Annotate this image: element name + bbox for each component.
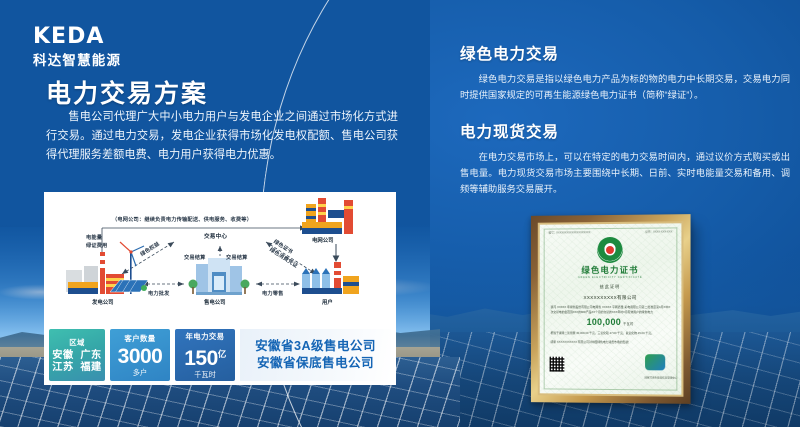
diagram-node-user: 用户 xyxy=(322,298,333,306)
section-body-green: 绿色电力交易是指以绿色电力产品为标的物的电力中长期交易，交易电力同时提供国家规定… xyxy=(460,71,790,103)
section-heading-green: 绿色电力交易 xyxy=(460,42,790,64)
stat-volume-caption: 年电力交易 xyxy=(186,331,225,342)
power-plant-illustration xyxy=(66,242,148,294)
brand-logo-mark: KEDA xyxy=(33,26,121,48)
stat-card-region: 区域 安徽 广东 江苏 福建 xyxy=(49,329,105,381)
certificate-body-text: 我司 XXXXX 年绿色股份有限公司电网省 XXXXX 平网质量 彩电用限公司第… xyxy=(549,305,673,314)
certificate-frame: 编号：XXXXXXXXXXXXXXXXXXXX 证书：XXXX-XXX-XXX … xyxy=(531,214,691,404)
stat-card-customers: 客户数量 3000 多户 xyxy=(110,329,170,381)
stat-customers-sub: 多户 xyxy=(133,368,147,378)
transaction-flow-diagram-card: （电网公司：继续负责电力传输配送、供电服务、收费等） 电能量 绿证费用 交易中心… xyxy=(44,192,396,325)
certificate-code-right: 证书：XXXX-XXX-XXX xyxy=(645,229,672,233)
intro-paragraph: 售电公司代理广大中小电力用户与发电企业之间通过市场化方式进行交易。通过电力交易，… xyxy=(46,108,398,165)
certificate-kind: 兹此证明 xyxy=(549,284,673,290)
brand-logo: KEDA 科达智慧能源 xyxy=(33,26,121,69)
stat-card-volume: 年电力交易 150亿 千瓦时 xyxy=(175,329,235,381)
region-2: 广东 xyxy=(80,350,101,361)
stat-customers-caption: 客户数量 xyxy=(124,333,155,344)
certificate-issuer-logo xyxy=(645,354,665,370)
region-4: 福建 xyxy=(80,362,101,373)
region-3: 江苏 xyxy=(52,362,73,373)
diagram-settlement-left: 交易结算 xyxy=(184,254,206,261)
stats-strip: 区域 安徽 广东 江苏 福建 客户数量 3000 多户 年电力交易 150亿 千… xyxy=(44,325,396,385)
certificate-top-codes: 编号：XXXXXXXXXXXXXXXXXXXX 证书：XXXX-XXX-XXX xyxy=(549,229,673,234)
certificate-emblem-icon xyxy=(597,237,623,263)
stat-region-values: 安徽 广东 江苏 福建 xyxy=(52,350,101,374)
seller-building-illustration xyxy=(189,258,250,295)
section-heading-spot: 电力现货交易 xyxy=(460,120,790,142)
stat-customers-value: 3000 xyxy=(118,346,163,367)
diagram-settlement-right: 交易结算 xyxy=(226,254,248,261)
certificate-paper: 编号：XXXXXXXXXXXXXXXXXXXX 证书：XXXX-XXX-XXX … xyxy=(538,221,684,396)
diagram-top-note: （电网公司：继续负责电力传输配送、供电服务、收费等） xyxy=(112,216,252,223)
certificate-amount-unit: 千瓦时 xyxy=(623,322,633,326)
page-title: 电力交易方案 xyxy=(46,74,208,110)
diagram-retail-label: 电力零售 xyxy=(262,290,284,297)
section-spot-trading: 电力现货交易 在电力交易市场上，可以在特定的电力交易时间内，通过议价方式购买或出… xyxy=(460,120,790,197)
certificate-qr-code xyxy=(550,357,565,372)
stat-volume-value: 150 xyxy=(184,347,218,370)
diagram-cert-fee-label: 绿证费用 xyxy=(86,242,108,249)
left-column: KEDA 科达智慧能源 电力交易方案 售电公司代理广大中小电力用户与发电企业之间… xyxy=(0,0,430,427)
section-body-spot: 在电力交易市场上，可以在特定的电力交易时间内，通过议价方式购买或出售电量。电力现… xyxy=(460,149,790,197)
certificate-footer-line: 相当于减排二氧化碳 49,000.00 千克，三氧化硫 47.00 千克，氮氧化… xyxy=(549,331,673,336)
slide-root: KEDA 科达智慧能源 电力交易方案 售电公司代理广大中小电力用户与发电企业之间… xyxy=(0,0,800,427)
region-1: 安徽 xyxy=(52,350,73,361)
right-column: 绿色电力交易 绿色电力交易是指以绿色电力产品为标的物的电力中长期交易，交易电力同… xyxy=(452,0,800,427)
certificate-amount: 100,000 xyxy=(587,317,622,327)
certificate-issuer-name: 国家可再生能源信息管理中心 xyxy=(645,375,678,379)
credentials-panel: KEDA 安徽省3A级售电公司 安徽省保底售电公司 xyxy=(240,329,391,381)
certificate-footer-line-2: 感谢 XXXXXXXXXXX 有限公司对中国绿色电力消费市场的贡献！ xyxy=(549,340,673,345)
section-green-power-trading: 绿色电力交易 绿色电力交易是指以绿色电力产品为标的物的电力中长期交易，交易电力同… xyxy=(460,42,790,103)
diagram-center-label: 交易中心 xyxy=(204,232,227,240)
credential-line-1: 安徽省3A级售电公司 xyxy=(255,338,376,355)
diagram-node-grid: 电网公司 xyxy=(312,236,334,244)
stat-volume-sub: 千瓦时 xyxy=(194,370,216,380)
certificate-subtitle: GREEN ELECTRICITY CERTIFICATE xyxy=(549,276,673,279)
certificate-code-left: 编号：XXXXXXXXXXXXXXXXXXXX xyxy=(549,230,591,234)
certificate-figure: 编号：XXXXXXXXXXXXXXXXXXXX 证书：XXXX-XXX-XXX … xyxy=(530,215,700,410)
diagram-wholesale-label: 电力批发 xyxy=(148,290,170,297)
credential-line-2: 安徽省保底售电公司 xyxy=(257,355,374,372)
stat-volume-unit-sup: 亿 xyxy=(218,349,226,359)
diagram-node-generator: 发电公司 xyxy=(92,298,114,306)
diagram-energy-label: 电能量 xyxy=(86,234,102,241)
stat-volume-value-wrap: 150亿 xyxy=(184,344,226,369)
certificate-company: XXXXXXXXXX有限公司 xyxy=(549,295,673,301)
certificate-title: 绿色电力证书 xyxy=(549,265,673,276)
stat-region-caption: 区域 xyxy=(69,337,85,348)
diagram-node-seller: 售电公司 xyxy=(204,298,226,306)
grid-company-illustration xyxy=(302,198,353,234)
brand-logo-name: 科达智慧能源 xyxy=(33,49,121,69)
certificate-amount-wrap: 100,000千瓦时 xyxy=(549,317,673,327)
certificate-content: 编号：XXXXXXXXXXXXXXXXXXXX 证书：XXXX-XXX-XXX … xyxy=(540,223,682,394)
user-factory-illustration xyxy=(302,262,359,294)
transaction-flow-diagram: （电网公司：继续负责电力传输配送、供电服务、收费等） 电能量 绿证费用 交易中心… xyxy=(44,192,396,325)
